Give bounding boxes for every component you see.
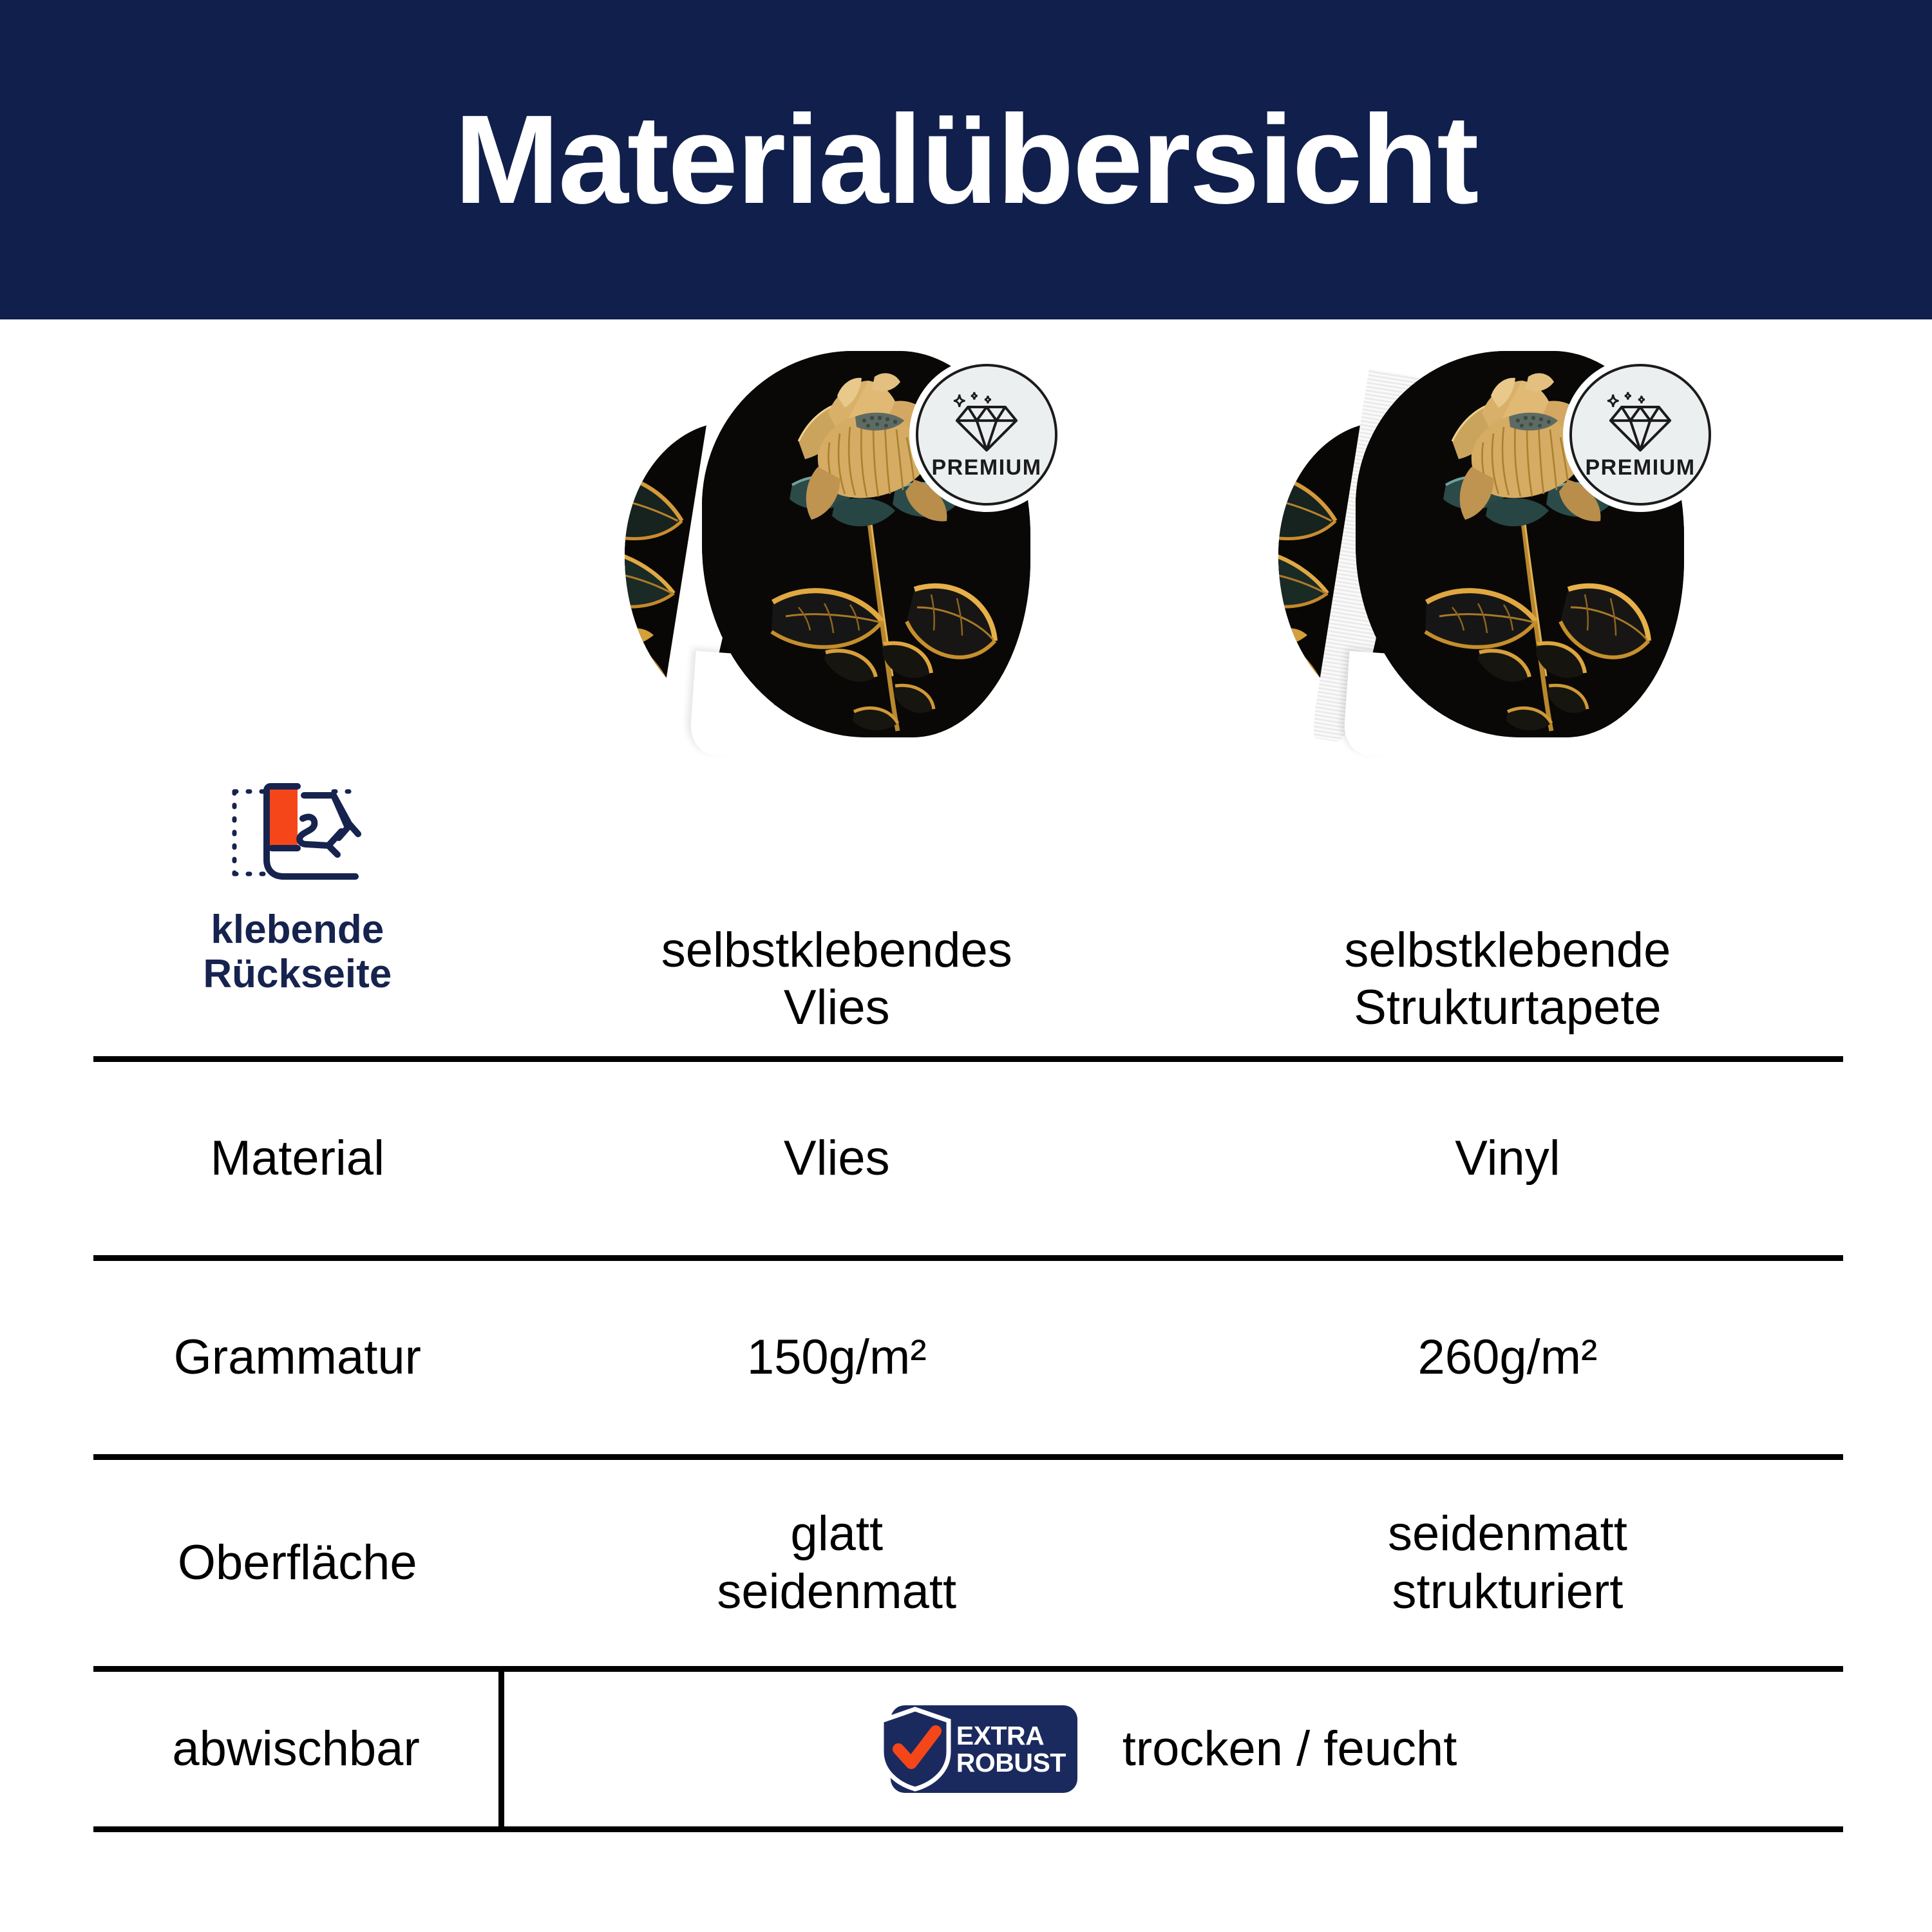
shield-check-icon (876, 1707, 954, 1792)
diamond-icon (1603, 391, 1678, 453)
row-label-abwischbar: abwischbar (93, 1669, 502, 1830)
cell-oberflaeche-vlies: glatt seidenmatt (502, 1457, 1172, 1669)
premium-badge: PREMIUM (916, 364, 1057, 506)
material-spec-table: klebende Rückseite selbstklebendes Vlies… (93, 776, 1843, 1832)
cell-grammatur-vlies: 150g/m² (502, 1258, 1172, 1457)
extra-robust-badge: EXTRA ROBUST (891, 1705, 1077, 1793)
table-row-material: Material Vlies Vinyl (93, 1059, 1843, 1258)
page-title: Materialübersicht (455, 97, 1478, 223)
premium-badge-label: PREMIUM (1585, 457, 1695, 478)
table-row-oberflaeche: Oberfläche glatt seidenmatt seidenmatt s… (93, 1457, 1843, 1669)
extra-robust-line1: EXTRA (956, 1721, 1044, 1750)
row-label-material: Material (93, 1059, 502, 1258)
column-header-strukturtapete: selbstklebende Strukturtapete (1172, 776, 1843, 1059)
table-row-grammatur: Grammatur 150g/m² 260g/m² (93, 1258, 1843, 1457)
product-preview-vlies: PREMIUM (625, 351, 1037, 763)
adhesive-peel-icon (220, 776, 375, 898)
abwischbar-value-text: trocken / feucht (1122, 1720, 1457, 1778)
page-header: Materialübersicht (0, 0, 1932, 319)
table-row-header: klebende Rückseite selbstklebendes Vlies… (93, 776, 1843, 1059)
row-label-grammatur: Grammatur (93, 1258, 502, 1457)
column-header-strukturtapete-text: selbstklebende Strukturtapete (1344, 923, 1671, 1036)
cell-abwischbar-value: EXTRA ROBUST trocken / feucht (502, 1669, 1843, 1830)
extra-robust-badge-text: EXTRA ROBUST (956, 1722, 1066, 1776)
extra-robust-line2: ROBUST (956, 1748, 1066, 1777)
cell-grammatur-strukturtapete: 260g/m² (1172, 1258, 1843, 1457)
adhesive-backing-cell: klebende Rückseite (93, 776, 502, 1059)
column-header-vlies-text: selbstklebendes Vlies (661, 923, 1012, 1036)
premium-badge: PREMIUM (1569, 364, 1711, 506)
cell-material-strukturtapete: Vinyl (1172, 1059, 1843, 1258)
column-header-vlies: selbstklebendes Vlies (502, 776, 1172, 1059)
cell-oberflaeche-strukturtapete: seidenmatt strukturiert (1172, 1457, 1843, 1669)
diamond-icon (949, 391, 1024, 453)
table-row-abwischbar: abwischbar EXTRA ROBUST trocken / feucht (93, 1669, 1843, 1830)
row-label-oberflaeche: Oberfläche (93, 1457, 502, 1669)
product-preview-strukturtapete: PREMIUM (1278, 351, 1690, 763)
adhesive-backing-label: klebende Rückseite (93, 907, 502, 997)
premium-badge-label: PREMIUM (931, 457, 1041, 478)
cell-material-vlies: Vlies (502, 1059, 1172, 1258)
